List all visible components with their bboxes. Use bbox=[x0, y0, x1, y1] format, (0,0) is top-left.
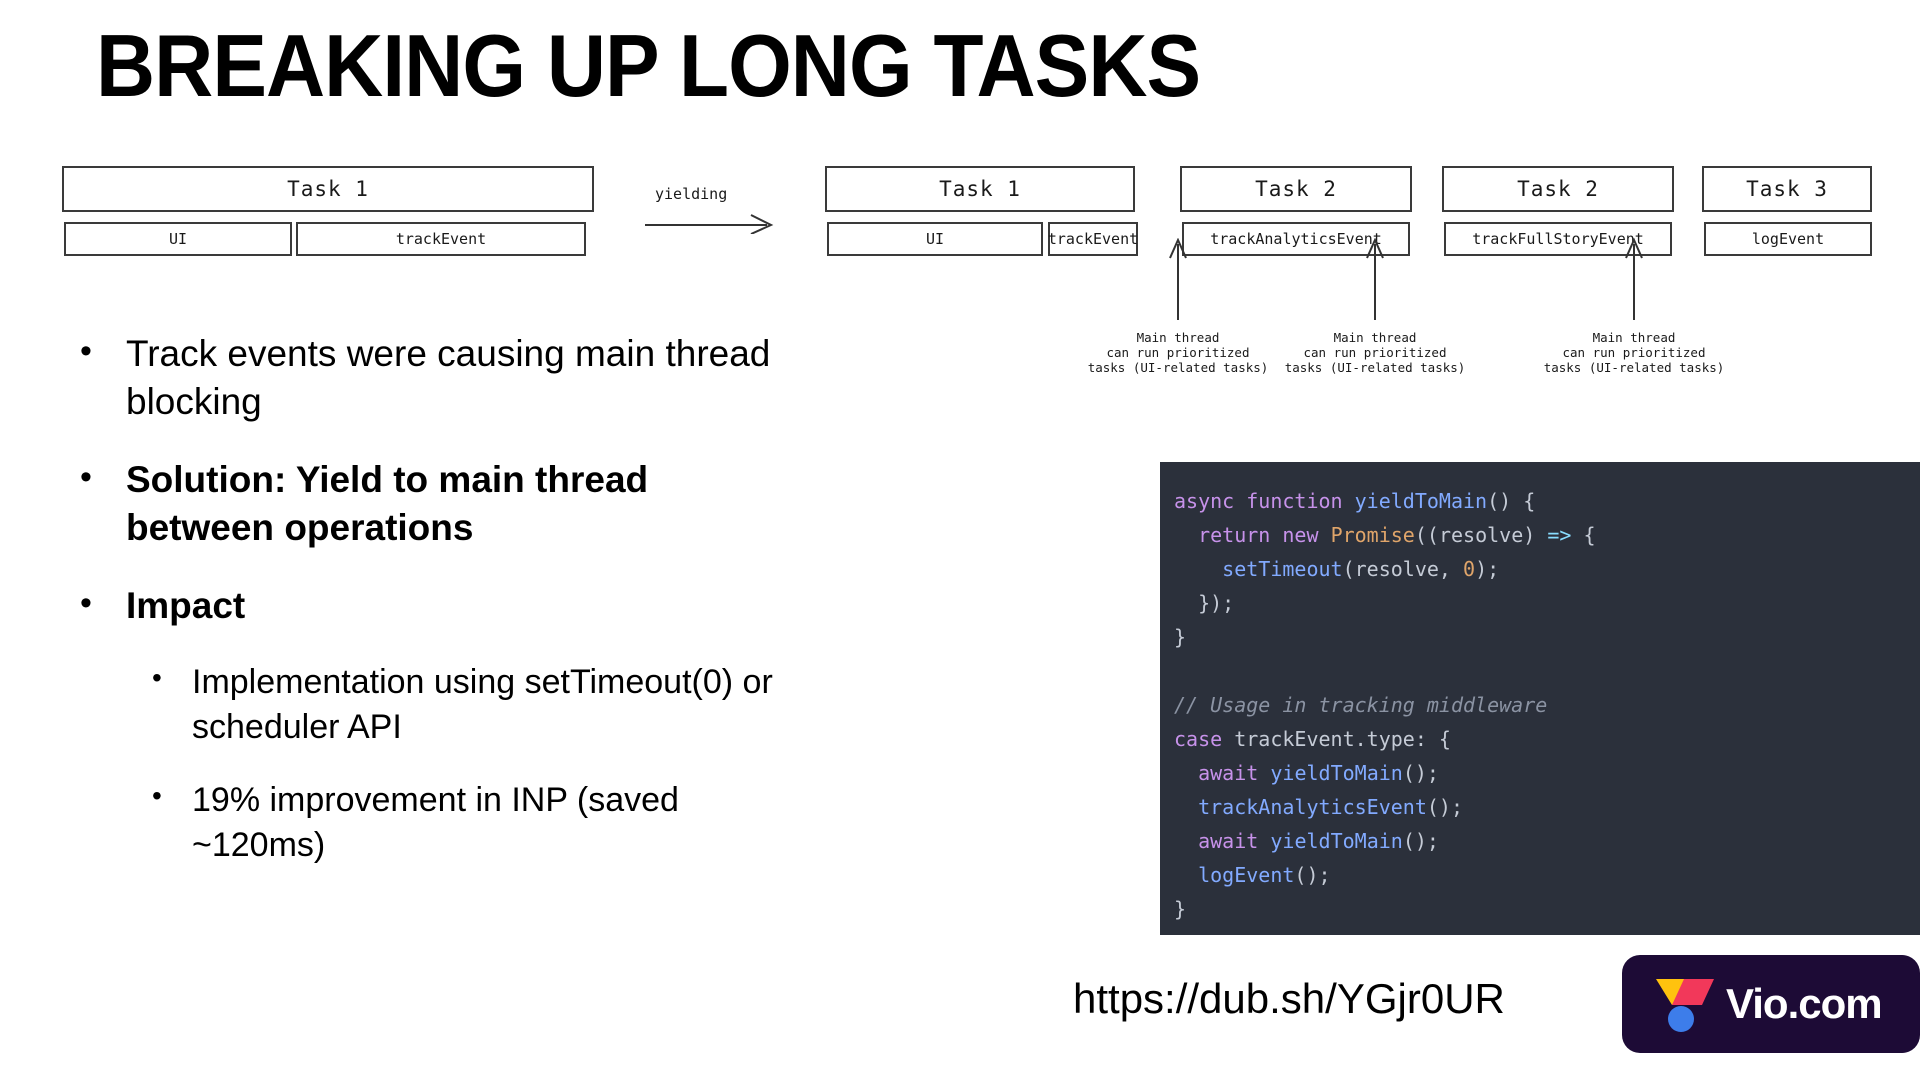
diagram-subtask-box: trackEvent bbox=[1048, 222, 1138, 256]
arrow-up-icon bbox=[1623, 238, 1645, 320]
code-token: { bbox=[1571, 523, 1595, 547]
code-token bbox=[1174, 523, 1198, 547]
diagram-task-box: Task 2 bbox=[1180, 166, 1412, 212]
code-token: await bbox=[1198, 829, 1258, 853]
vio-logo-mark-icon bbox=[1654, 975, 1716, 1033]
code-line: }); bbox=[1174, 586, 1920, 620]
vio-mark-svg bbox=[1654, 975, 1716, 1033]
diagram-subtask-box: UI bbox=[64, 222, 292, 256]
code-token: 0 bbox=[1463, 557, 1475, 581]
code-token: await bbox=[1198, 761, 1258, 785]
code-token bbox=[1270, 523, 1282, 547]
bullet-list: •Track events were causing main thread b… bbox=[80, 330, 780, 896]
code-token bbox=[1258, 829, 1270, 853]
diagram-annotation-line: Main thread bbox=[1285, 330, 1466, 345]
code-token: logEvent bbox=[1198, 863, 1294, 887]
bullet-item: •Track events were causing main thread b… bbox=[80, 330, 780, 426]
code-token: () { bbox=[1487, 489, 1535, 513]
code-token: (resolve, bbox=[1343, 557, 1463, 581]
code-token: (); bbox=[1294, 863, 1330, 887]
code-line: setTimeout(resolve, 0); bbox=[1174, 552, 1920, 586]
arrow-right-icon bbox=[645, 212, 775, 234]
code-token: trackAnalyticsEvent bbox=[1198, 795, 1427, 819]
bullet-item: •Implementation using setTimeout(0) or s… bbox=[152, 660, 780, 750]
diagram-annotation: Main threadcan run prioritizedtasks (UI-… bbox=[1285, 330, 1466, 375]
code-line: // Usage in tracking middleware bbox=[1174, 688, 1920, 722]
code-line: trackAnalyticsEvent(); bbox=[1174, 790, 1920, 824]
code-line: } bbox=[1174, 620, 1920, 654]
arrow-up-icon bbox=[1364, 238, 1386, 320]
code-token: }); bbox=[1174, 591, 1234, 615]
code-token: yieldToMain bbox=[1270, 761, 1402, 785]
code-token: ((resolve) bbox=[1415, 523, 1547, 547]
bullet-text: Solution: Yield to main thread between o… bbox=[126, 456, 780, 552]
diagram-task-box: Task 1 bbox=[825, 166, 1135, 212]
diagram-annotation-line: can run prioritized bbox=[1544, 345, 1725, 360]
code-token: async bbox=[1174, 489, 1234, 513]
bullet-text: Track events were causing main thread bl… bbox=[126, 330, 780, 426]
code-token: trackEvent.type: { bbox=[1222, 727, 1451, 751]
bullet-glyph-icon: • bbox=[80, 330, 126, 368]
code-line: async function yieldToMain() { bbox=[1174, 484, 1920, 518]
diagram-annotation-line: Main thread bbox=[1544, 330, 1725, 345]
code-token bbox=[1174, 863, 1198, 887]
code-token bbox=[1319, 523, 1331, 547]
code-token: (); bbox=[1403, 761, 1439, 785]
code-token bbox=[1343, 489, 1355, 513]
code-token: (); bbox=[1427, 795, 1463, 819]
diagram-task-box: Task 1 bbox=[62, 166, 594, 212]
diagram-annotation-line: tasks (UI-related tasks) bbox=[1285, 360, 1466, 375]
code-line: return new Promise((resolve) => { bbox=[1174, 518, 1920, 552]
arrow-up-icon bbox=[1167, 238, 1189, 320]
diagram-yielding-label: yielding bbox=[655, 185, 727, 203]
code-token: case bbox=[1174, 727, 1222, 751]
diagram-subtask-box: UI bbox=[827, 222, 1043, 256]
code-snippet: async function yieldToMain() { return ne… bbox=[1160, 462, 1920, 935]
diagram-task-box: Task 3 bbox=[1702, 166, 1872, 212]
page-title: BREAKING UP LONG TASKS bbox=[96, 18, 1200, 114]
code-line: await yieldToMain(); bbox=[1174, 824, 1920, 858]
code-token bbox=[1174, 795, 1198, 819]
code-token bbox=[1258, 761, 1270, 785]
diagram-annotation-line: Main thread bbox=[1088, 330, 1269, 345]
code-token: } bbox=[1174, 897, 1186, 921]
diagram-annotation: Main threadcan run prioritizedtasks (UI-… bbox=[1544, 330, 1725, 375]
code-token: setTimeout bbox=[1222, 557, 1342, 581]
diagram-annotation-line: tasks (UI-related tasks) bbox=[1544, 360, 1725, 375]
code-token: new bbox=[1282, 523, 1318, 547]
diagram-annotation: Main threadcan run prioritizedtasks (UI-… bbox=[1088, 330, 1269, 375]
code-token: return bbox=[1198, 523, 1270, 547]
footer-url[interactable]: https://dub.sh/YGjr0UR bbox=[1073, 972, 1505, 1026]
diagram-annotation-line: can run prioritized bbox=[1285, 345, 1466, 360]
diagram-task-box: Task 2 bbox=[1442, 166, 1674, 212]
diagram-annotation-line: can run prioritized bbox=[1088, 345, 1269, 360]
bullet-text: Implementation using setTimeout(0) or sc… bbox=[192, 660, 780, 750]
bullet-item: •19% improvement in INP (saved ~120ms) bbox=[152, 778, 780, 868]
diagram-subtask-box: trackEvent bbox=[296, 222, 586, 256]
code-line: case trackEvent.type: { bbox=[1174, 722, 1920, 756]
code-token: function bbox=[1246, 489, 1342, 513]
code-token bbox=[1174, 557, 1222, 581]
bullet-glyph-icon: • bbox=[152, 778, 192, 810]
code-token: (); bbox=[1403, 829, 1439, 853]
code-line: logEvent(); bbox=[1174, 858, 1920, 892]
bullet-text: 19% improvement in INP (saved ~120ms) bbox=[192, 778, 780, 868]
code-token bbox=[1174, 761, 1198, 785]
bullet-item: •Solution: Yield to main thread between … bbox=[80, 456, 780, 552]
bullet-glyph-icon: • bbox=[80, 456, 126, 494]
code-token: => bbox=[1547, 523, 1571, 547]
code-token: yieldToMain bbox=[1270, 829, 1402, 853]
code-token: } bbox=[1174, 625, 1186, 649]
diagram-subtask-box: logEvent bbox=[1704, 222, 1872, 256]
code-token: ); bbox=[1475, 557, 1499, 581]
vio-wordmark: Vio.com bbox=[1726, 980, 1882, 1028]
diagram-annotation-line: tasks (UI-related tasks) bbox=[1088, 360, 1269, 375]
code-token: Promise bbox=[1331, 523, 1415, 547]
code-token: // Usage in tracking middleware bbox=[1174, 693, 1547, 717]
bullet-glyph-icon: • bbox=[80, 582, 126, 620]
bullet-item: •Impact bbox=[80, 582, 780, 630]
bullet-glyph-icon: • bbox=[152, 660, 192, 692]
code-token bbox=[1174, 829, 1198, 853]
bullet-text: Impact bbox=[126, 582, 780, 630]
code-line: await yieldToMain(); bbox=[1174, 756, 1920, 790]
code-line bbox=[1174, 654, 1920, 688]
vio-logo: Vio.com bbox=[1622, 955, 1920, 1053]
code-token bbox=[1234, 489, 1246, 513]
code-line: } bbox=[1174, 892, 1920, 926]
code-token: yieldToMain bbox=[1355, 489, 1487, 513]
